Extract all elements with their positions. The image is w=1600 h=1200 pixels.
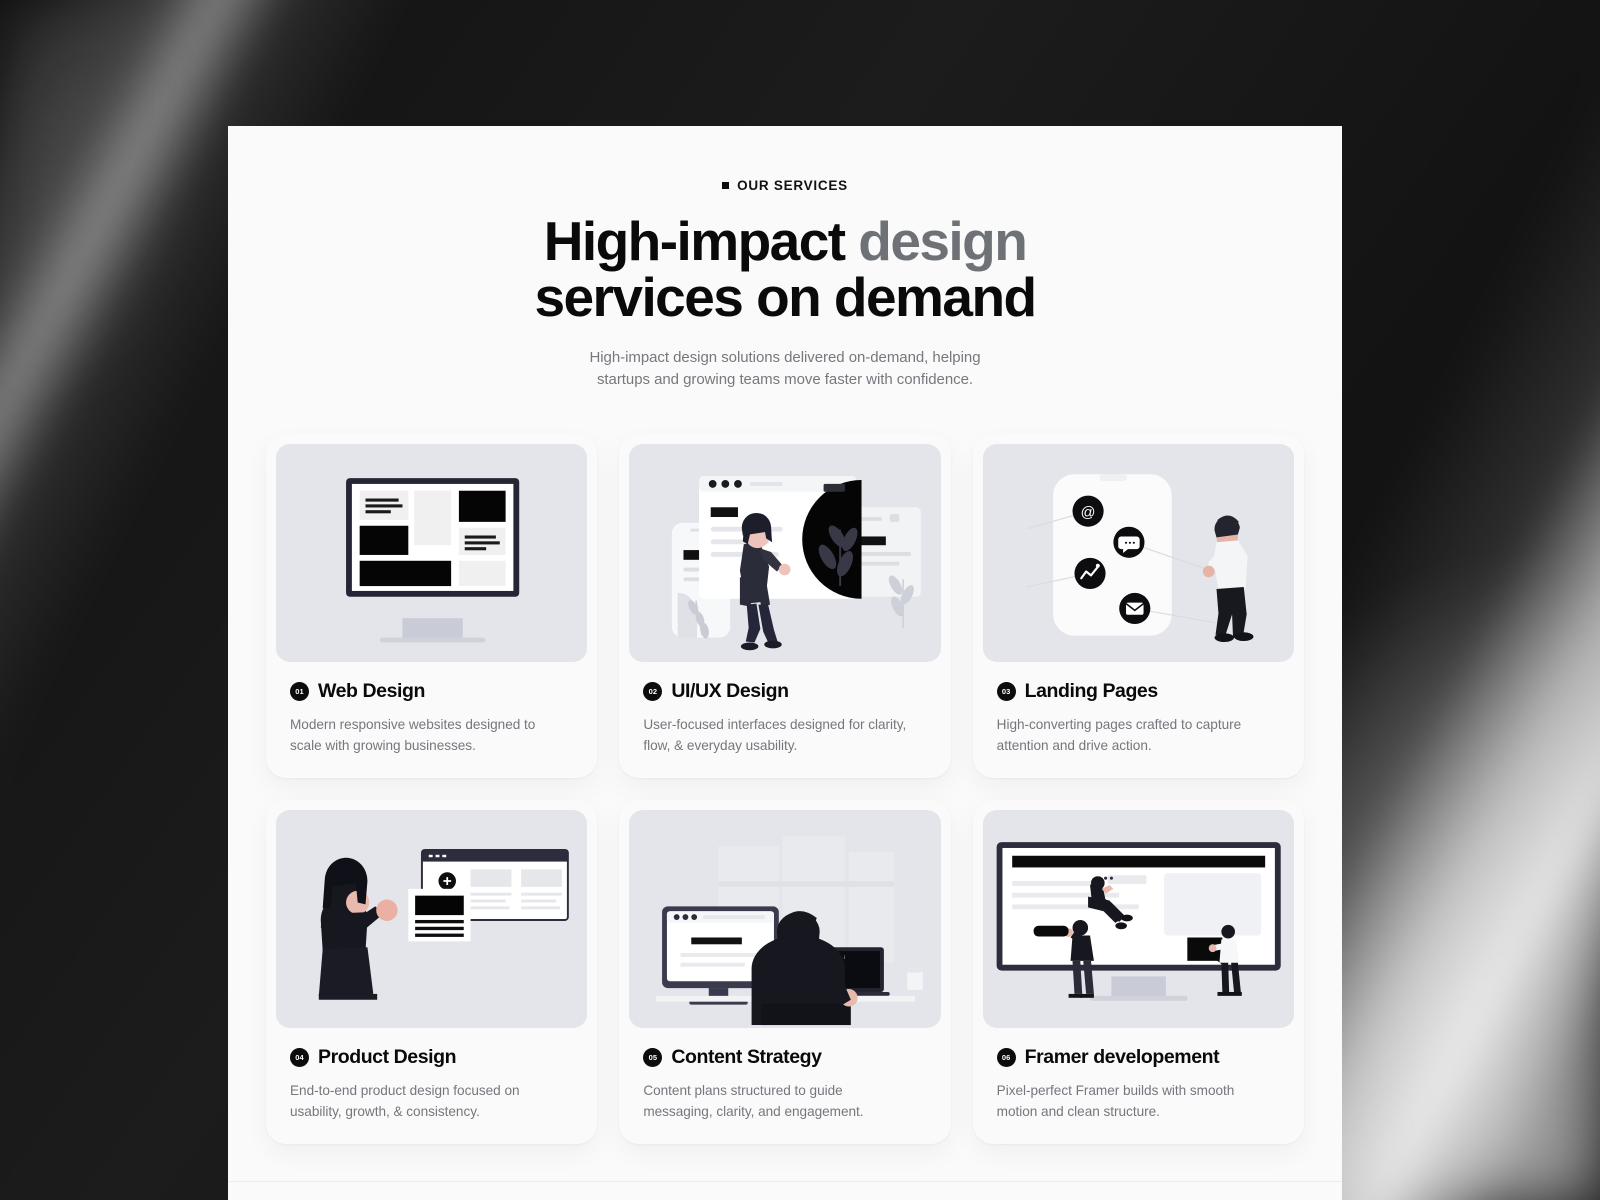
card-body: 06 Framer developement Pixel-perfect Fra… [983,1028,1294,1122]
service-card[interactable]: 06 Framer developement Pixel-perfect Fra… [973,800,1304,1144]
card-description: Modern responsive websites designed to s… [290,714,560,756]
card-body: 05 Content Strategy Content plans struct… [629,1028,940,1122]
page-subtitle: High-impact design solutions delivered o… [575,347,995,391]
card-number-badge: 05 [643,1048,662,1067]
card-number-badge: 02 [643,682,662,701]
card-description: End-to-end product design focused on usa… [290,1080,560,1122]
svg-text:@: @ [1080,505,1095,521]
desktop-monitor-layout-illustration [276,444,587,662]
service-card[interactable]: 01 Web Design Modern responsive websites… [266,434,597,778]
card-number-badge: 01 [290,682,309,701]
card-body: 04 Product Design End-to-end product des… [276,1028,587,1122]
card-title: Landing Pages [1025,680,1158,703]
service-card[interactable]: const ui = { grid: 12, gap: 16, flow: tr… [619,800,950,1144]
headline-strong: High-impact [544,210,859,272]
card-number-badge: 06 [997,1048,1016,1067]
page-title: High-impact design services on demand [266,213,1304,325]
section-eyebrow: OUR SERVICES [266,178,1304,193]
service-card[interactable]: 04 Product Design End-to-end product des… [266,800,597,1144]
man-desk-monitor-laptop-illustration: const ui = { grid: 12, gap: 16, flow: tr… [629,810,940,1028]
square-bullet-icon [722,182,729,189]
headline-muted: design [858,210,1026,272]
card-title-row: 06 Framer developement [997,1046,1280,1069]
card-description: User-focused interfaces designed for cla… [643,714,913,756]
card-title: Content Strategy [671,1046,821,1069]
card-body: 03 Landing Pages High-converting pages c… [983,662,1294,756]
card-title: Product Design [318,1046,456,1069]
woman-browser-windows-illustration [629,444,940,662]
card-title: Web Design [318,680,425,703]
card-title: UI/UX Design [671,680,788,703]
phone-icons-man-pulling-illustration: @ [983,444,1294,662]
card-title: Framer developement [1025,1046,1220,1069]
card-description: Pixel-perfect Framer builds with smooth … [997,1080,1267,1122]
eyebrow-label: OUR SERVICES [737,178,848,193]
card-title-row: 05 Content Strategy [643,1046,926,1069]
page-panel: OUR SERVICES High-impact design services… [228,126,1342,1200]
card-title-row: 03 Landing Pages [997,680,1280,703]
headline-line-2: services on demand [534,266,1035,328]
card-title-row: 02 UI/UX Design [643,680,926,703]
service-card[interactable]: @ [973,434,1304,778]
card-title-row: 04 Product Design [290,1046,573,1069]
service-card[interactable]: 02 UI/UX Design User-focused interfaces … [619,434,950,778]
card-number-badge: 03 [997,682,1016,701]
services-grid: 01 Web Design Modern responsive websites… [266,434,1304,1144]
woman-placing-card-illustration [276,810,587,1028]
monitor-team-building-page-illustration [983,810,1294,1028]
card-number-badge: 04 [290,1048,309,1067]
card-body: 02 UI/UX Design User-focused interfaces … [629,662,940,756]
card-description: High-converting pages crafted to capture… [997,714,1267,756]
headline-line-1: High-impact design [544,210,1027,272]
card-body: 01 Web Design Modern responsive websites… [276,662,587,756]
bottom-divider [228,1181,1342,1182]
card-description: Content plans structured to guide messag… [643,1080,913,1122]
card-title-row: 01 Web Design [290,680,573,703]
